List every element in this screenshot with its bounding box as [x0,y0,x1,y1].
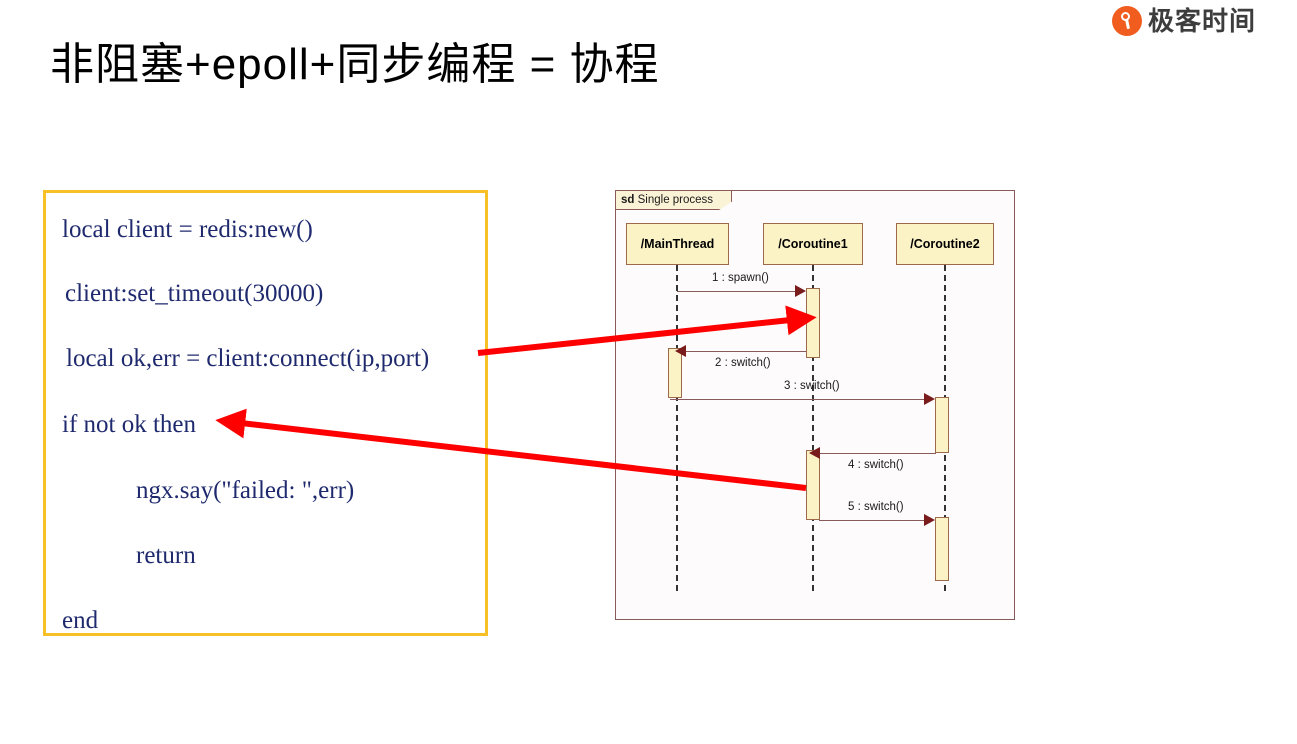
msg-label-3: 3 : switch() [784,380,840,392]
msg-line-3 [670,399,925,400]
code-line-6: return [136,543,196,568]
msg-line-5 [819,520,925,521]
brand-name: 极客时间 [1148,6,1256,36]
msg-arrowhead-4 [809,447,820,459]
msg-label-2: 2 : switch() [715,357,771,369]
page-title: 非阻塞+epoll+同步编程 = 协程 [50,28,660,92]
sequence-diagram: sd Single process /MainThread /Coroutine… [615,190,1015,620]
frame-keyword: sd [621,194,634,206]
msg-arrowhead-2 [675,345,686,357]
msg-label-5: 5 : switch() [848,501,904,513]
code-line-1: local client = redis:new() [62,217,313,242]
code-line-2: client:set_timeout(30000) [65,281,323,306]
lifeline-head-coroutine2: /Coroutine2 [896,223,994,265]
msg-arrowhead-3 [924,393,935,405]
msg-line-2 [686,351,806,352]
code-line-5: ngx.say("failed: ",err) [136,478,354,503]
msg-label-4: 4 : switch() [848,459,904,471]
activation-coroutine2-1 [935,397,949,453]
activation-coroutine1-1 [806,288,820,358]
code-line-7: end [62,608,98,633]
geektime-logo-icon [1112,6,1142,36]
msg-arrowhead-5 [924,514,935,526]
code-line-4: if not ok then [62,412,196,437]
brand-logo: 极客时间 [1112,6,1256,36]
frame-label: Single process [638,194,713,206]
msg-line-4 [820,453,936,454]
lifeline-head-coroutine1: /Coroutine1 [763,223,863,265]
sequence-frame-tab: sd Single process [616,191,732,210]
code-snippet-panel: local client = redis:new() client:set_ti… [43,190,488,636]
msg-line-1 [677,291,795,292]
activation-coroutine1-2 [806,450,820,520]
activation-coroutine2-2 [935,517,949,581]
lifeline-dash-mainthread [676,265,678,591]
lifeline-head-mainthread: /MainThread [626,223,729,265]
msg-arrowhead-1 [795,285,806,297]
code-line-3: local ok,err = client:connect(ip,port) [66,346,429,371]
msg-label-1: 1 : spawn() [712,272,769,284]
